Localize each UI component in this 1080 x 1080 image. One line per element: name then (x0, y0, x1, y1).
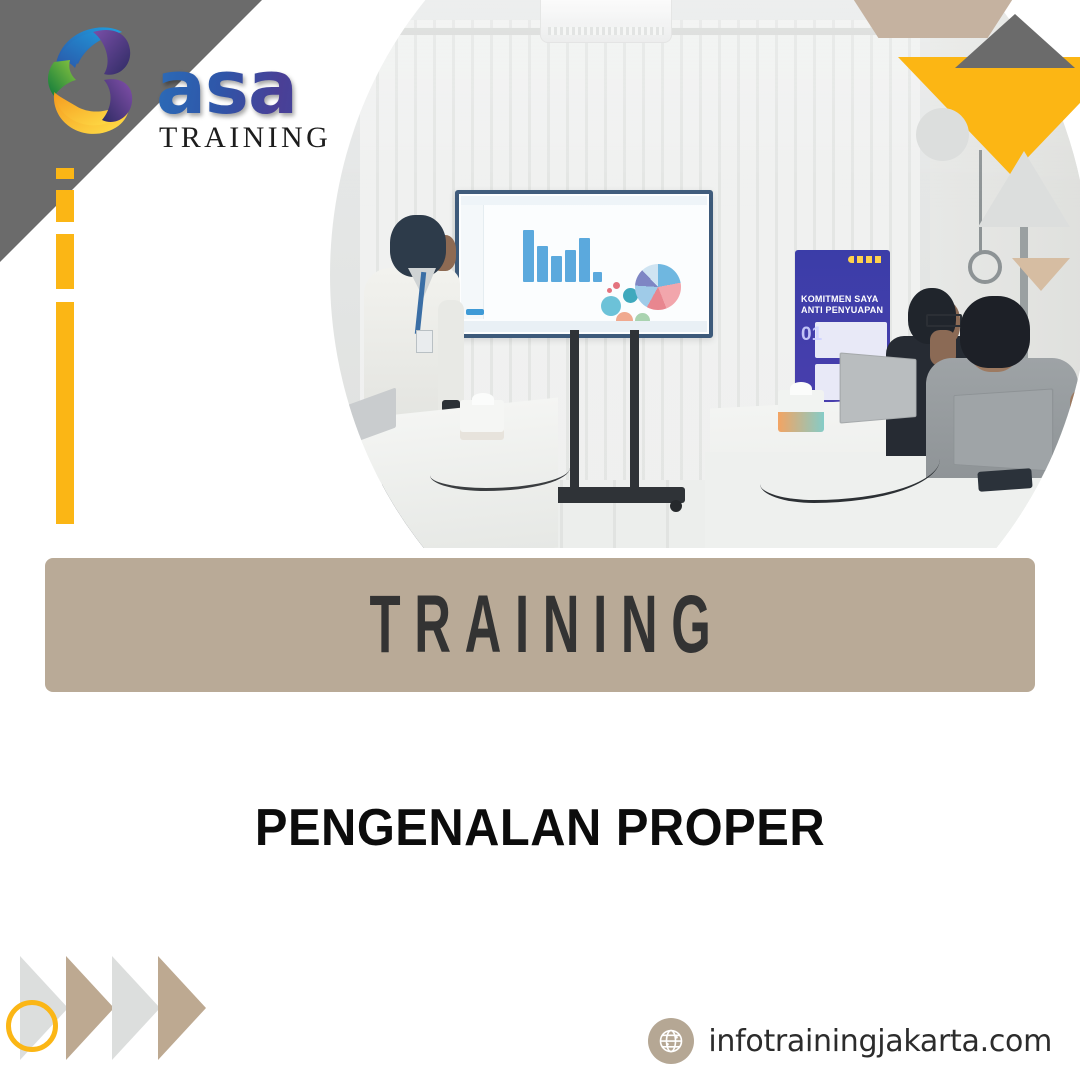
training-banner: TRAINING (45, 558, 1035, 692)
asa-circular-swoosh-logo-icon (38, 18, 166, 158)
dashed-bar-segment-1 (56, 168, 74, 179)
brand-logo-text: asa TRAINING (156, 58, 331, 155)
ring-yellow-icon (6, 1000, 58, 1052)
chevron-4-icon (158, 956, 206, 1060)
dashed-bar-segment-3 (56, 234, 74, 289)
poster-canvas: KOMITMEN SAYA ANTI PENYUAPAN 01 02 03 (0, 0, 1080, 1080)
brand-name: asa (156, 58, 331, 119)
triangle-up-grey-shape (955, 14, 1075, 68)
chevron-2-icon (66, 956, 114, 1060)
globe-icon (648, 1018, 694, 1064)
course-title: PENGENALAN PROPER (32, 798, 1047, 858)
dashed-bar-segment-2 (56, 190, 74, 222)
triangle-up-light-grey-shape (978, 151, 1070, 227)
triangle-down-tan-shape (1012, 258, 1070, 291)
dashed-bar-segment-4 (56, 302, 74, 524)
banner-title: TRAINING (356, 584, 724, 666)
circle-light-grey-shape (916, 108, 969, 161)
website-url: infotrainingjakarta.com (708, 1024, 1052, 1059)
chevron-3-icon (112, 956, 160, 1060)
brand-logo: asa TRAINING (38, 18, 348, 178)
footer-website[interactable]: infotrainingjakarta.com (648, 1018, 1052, 1064)
